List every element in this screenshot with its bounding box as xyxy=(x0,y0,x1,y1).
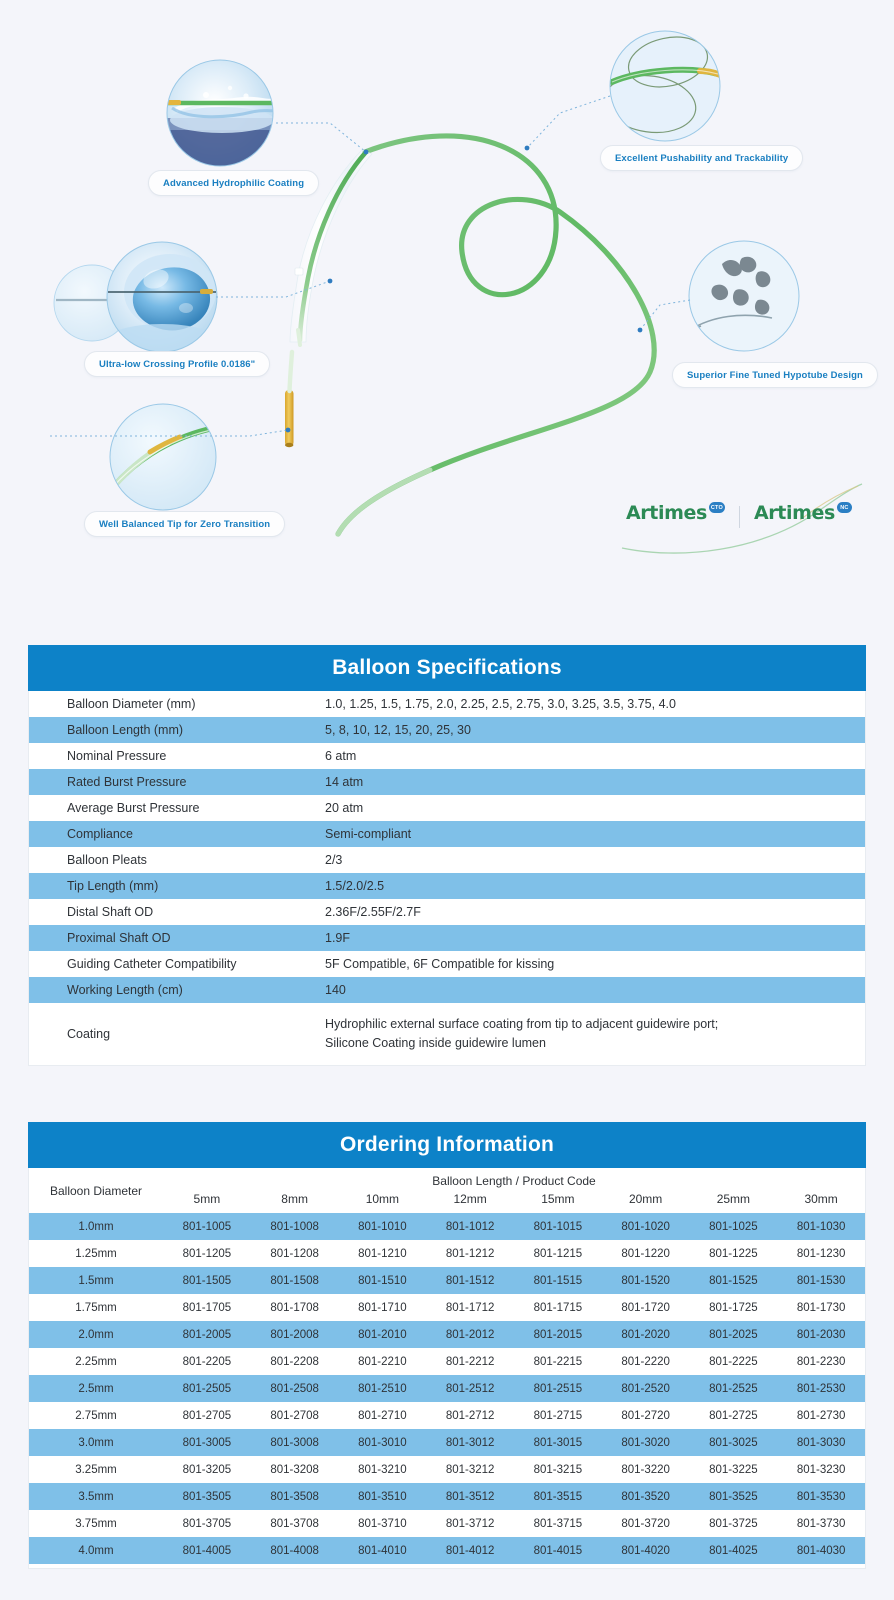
ordering-header-length: 25mm xyxy=(690,1190,778,1213)
ordering-diameter-cell: 1.0mm xyxy=(29,1213,163,1240)
ordering-product-code-cell: 801-1725 xyxy=(690,1294,778,1321)
ordering-diameter-cell: 3.75mm xyxy=(29,1510,163,1537)
spec-value: 5, 8, 10, 12, 15, 20, 25, 30 xyxy=(325,717,865,743)
specifications-body: Balloon Diameter (mm)1.0, 1.25, 1.5, 1.7… xyxy=(29,691,865,1065)
ordering-diameter-cell: 2.0mm xyxy=(29,1321,163,1348)
spec-label: Coating xyxy=(29,1003,325,1065)
ordering-diameter-cell: 1.5mm xyxy=(29,1267,163,1294)
distal-tip xyxy=(285,390,294,446)
spec-row: Balloon Length (mm)5, 8, 10, 12, 15, 20,… xyxy=(29,717,865,743)
ordering-row: 2.75mm801-2705801-2708801-2710801-271280… xyxy=(29,1402,865,1429)
ordering-product-code-cell: 801-3025 xyxy=(690,1429,778,1456)
catheter-shaft-curve xyxy=(338,136,654,534)
brand-artimes-nc: Artimes NC xyxy=(754,504,852,523)
ordering-diameter-cell: 2.25mm xyxy=(29,1348,163,1375)
ordering-product-code-cell: 801-3525 xyxy=(690,1483,778,1510)
ordering-row: 2.25mm801-2205801-2208801-2210801-221280… xyxy=(29,1348,865,1375)
hero-illustration: Advanced Hydrophilic Coating Excellent P… xyxy=(0,0,894,600)
ordering-product-code-cell: 801-2530 xyxy=(777,1375,865,1402)
ordering-product-code-cell: 801-4005 xyxy=(163,1537,251,1564)
ordering-product-code-cell: 801-2512 xyxy=(426,1375,514,1402)
spec-row: Proximal Shaft OD1.9F xyxy=(29,925,865,951)
ordering-row: 2.5mm801-2505801-2508801-2510801-2512801… xyxy=(29,1375,865,1402)
ordering-product-code-cell: 801-3510 xyxy=(339,1483,427,1510)
ordering-product-code-cell: 801-2220 xyxy=(602,1348,690,1375)
ordering-diameter-cell: 3.25mm xyxy=(29,1456,163,1483)
spec-row: Nominal Pressure6 atm xyxy=(29,743,865,769)
brand-lockup: Artimes CTO Artimes NC xyxy=(612,496,872,558)
ordering-product-code-cell: 801-2705 xyxy=(163,1402,251,1429)
ordering-product-code-cell: 801-2230 xyxy=(777,1348,865,1375)
ordering-product-code-cell: 801-2715 xyxy=(514,1402,602,1429)
ordering-product-code-cell: 801-3030 xyxy=(777,1429,865,1456)
ordering-product-code-cell: 801-1712 xyxy=(426,1294,514,1321)
ordering-product-code-cell: 801-2012 xyxy=(426,1321,514,1348)
ordering-product-code-cell: 801-3230 xyxy=(777,1456,865,1483)
spec-label: Working Length (cm) xyxy=(29,977,325,1003)
ordering-product-code-cell: 801-2005 xyxy=(163,1321,251,1348)
ordering-product-code-cell: 801-2720 xyxy=(602,1402,690,1429)
spec-value: 14 atm xyxy=(325,769,865,795)
ordering-product-code-cell: 801-3505 xyxy=(163,1483,251,1510)
ordering-product-code-cell: 801-3020 xyxy=(602,1429,690,1456)
ordering-product-code-cell: 801-1015 xyxy=(514,1213,602,1240)
ordering-product-code-cell: 801-4012 xyxy=(426,1537,514,1564)
ordering-product-code-cell: 801-3705 xyxy=(163,1510,251,1537)
ordering-product-code-cell: 801-2015 xyxy=(514,1321,602,1348)
ordering-row: 1.75mm801-1705801-1708801-1710801-171280… xyxy=(29,1294,865,1321)
ordering-product-code-cell: 801-3010 xyxy=(339,1429,427,1456)
ordering-product-code-cell: 801-2025 xyxy=(690,1321,778,1348)
ordering-row: 1.0mm801-1005801-1008801-1010801-1012801… xyxy=(29,1213,865,1240)
spec-label: Compliance xyxy=(29,821,325,847)
ordering-product-code-cell: 801-2525 xyxy=(690,1375,778,1402)
ordering-product-code-cell: 801-2520 xyxy=(602,1375,690,1402)
ordering-product-code-cell: 801-2205 xyxy=(163,1348,251,1375)
ordering-product-code-cell: 801-1008 xyxy=(251,1213,339,1240)
ordering-row: 3.75mm801-3705801-3708801-3710801-371280… xyxy=(29,1510,865,1537)
ordering-product-code-cell: 801-2508 xyxy=(251,1375,339,1402)
ordering-header-length: 30mm xyxy=(777,1190,865,1213)
ordering-product-code-cell: 801-1530 xyxy=(777,1267,865,1294)
ordering-product-code-cell: 801-3730 xyxy=(777,1510,865,1537)
spec-label: Rated Burst Pressure xyxy=(29,769,325,795)
ordering-product-code-cell: 801-3220 xyxy=(602,1456,690,1483)
spec-row: Average Burst Pressure20 atm xyxy=(29,795,865,821)
spec-value: 1.0, 1.25, 1.5, 1.75, 2.0, 2.25, 2.5, 2.… xyxy=(325,691,865,717)
ordering-product-code-cell: 801-2225 xyxy=(690,1348,778,1375)
ordering-row: 3.5mm801-3505801-3508801-3510801-3512801… xyxy=(29,1483,865,1510)
product-sheet-page: Advanced Hydrophilic Coating Excellent P… xyxy=(0,0,894,1600)
ordering-header-diameter: Balloon Diameter xyxy=(29,1168,163,1213)
spec-row: CoatingHydrophilic external surface coat… xyxy=(29,1003,865,1065)
spec-value: 5F Compatible, 6F Compatible for kissing xyxy=(325,951,865,977)
ordering-title: Ordering Information xyxy=(28,1122,866,1168)
ordering-product-code-cell: 801-4008 xyxy=(251,1537,339,1564)
ordering-product-code-cell: 801-3005 xyxy=(163,1429,251,1456)
ordering-head: Balloon DiameterBalloon Length / Product… xyxy=(29,1168,865,1213)
brand-badge: CTO xyxy=(709,502,725,513)
detail-circle-pushability xyxy=(601,30,720,141)
callout-label: Advanced Hydrophilic Coating xyxy=(163,178,304,189)
ordering-header-length: 20mm xyxy=(602,1190,690,1213)
spec-value: 1.5/2.0/2.5 xyxy=(325,873,865,899)
ordering-product-code-cell: 801-1720 xyxy=(602,1294,690,1321)
brand-divider xyxy=(739,506,740,528)
ordering-product-code-cell: 801-1215 xyxy=(514,1240,602,1267)
ordering-product-code-cell: 801-2212 xyxy=(426,1348,514,1375)
spec-row: Working Length (cm)140 xyxy=(29,977,865,1003)
detail-circle-crossing-profile xyxy=(54,242,217,356)
ordering-product-code-cell: 801-3205 xyxy=(163,1456,251,1483)
ordering-header-length: 5mm xyxy=(163,1190,251,1213)
ordering-product-code-cell: 801-2008 xyxy=(251,1321,339,1348)
spec-label: Balloon Diameter (mm) xyxy=(29,691,325,717)
ordering-diameter-cell: 3.5mm xyxy=(29,1483,163,1510)
ordering-product-code-cell: 801-2510 xyxy=(339,1375,427,1402)
ordering-product-code-cell: 801-3515 xyxy=(514,1483,602,1510)
ordering-product-code-cell: 801-4025 xyxy=(690,1537,778,1564)
ordering-product-code-cell: 801-3225 xyxy=(690,1456,778,1483)
ordering-product-code-cell: 801-3210 xyxy=(339,1456,427,1483)
ordering-product-code-cell: 801-3725 xyxy=(690,1510,778,1537)
spec-value: 1.9F xyxy=(325,925,865,951)
ordering-row: 1.5mm801-1505801-1508801-1510801-1512801… xyxy=(29,1267,865,1294)
ordering-product-code-cell: 801-1012 xyxy=(426,1213,514,1240)
ordering-product-code-cell: 801-3512 xyxy=(426,1483,514,1510)
ordering-row: 1.25mm801-1205801-1208801-1210801-121280… xyxy=(29,1240,865,1267)
ordering-product-code-cell: 801-2725 xyxy=(690,1402,778,1429)
brand-artimes-cto: Artimes CTO xyxy=(626,504,725,523)
spec-value: 2.36F/2.55F/2.7F xyxy=(325,899,865,925)
ordering-header-row-span: Balloon DiameterBalloon Length / Product… xyxy=(29,1168,865,1190)
spec-value: Hydrophilic external surface coating fro… xyxy=(325,1003,865,1065)
ordering-information-panel: Ordering Information Balloon DiameterBal… xyxy=(28,1122,866,1569)
ordering-diameter-cell: 1.75mm xyxy=(29,1294,163,1321)
spec-label: Average Burst Pressure xyxy=(29,795,325,821)
ordering-product-code-cell: 801-1205 xyxy=(163,1240,251,1267)
ordering-product-code-cell: 801-1225 xyxy=(690,1240,778,1267)
ordering-product-code-cell: 801-2210 xyxy=(339,1348,427,1375)
ordering-product-code-cell: 801-1020 xyxy=(602,1213,690,1240)
ordering-product-code-cell: 801-3520 xyxy=(602,1483,690,1510)
ordering-product-code-cell: 801-1220 xyxy=(602,1240,690,1267)
spec-label: Proximal Shaft OD xyxy=(29,925,325,951)
spec-row: Distal Shaft OD2.36F/2.55F/2.7F xyxy=(29,899,865,925)
ordering-product-code-cell: 801-2010 xyxy=(339,1321,427,1348)
brand-name: Artimes xyxy=(754,504,835,523)
ordering-product-code-cell: 801-3712 xyxy=(426,1510,514,1537)
spec-value: 140 xyxy=(325,977,865,1003)
ordering-product-code-cell: 801-1005 xyxy=(163,1213,251,1240)
ordering-row: 3.25mm801-3205801-3208801-3210801-321280… xyxy=(29,1456,865,1483)
ordering-header-length: 12mm xyxy=(426,1190,514,1213)
spec-row: Balloon Diameter (mm)1.0, 1.25, 1.5, 1.7… xyxy=(29,691,865,717)
ordering-header-length-span: Balloon Length / Product Code xyxy=(163,1168,865,1190)
ordering-product-code-cell: 801-1505 xyxy=(163,1267,251,1294)
ordering-diameter-cell: 4.0mm xyxy=(29,1537,163,1564)
ordering-product-code-cell: 801-3012 xyxy=(426,1429,514,1456)
ordering-product-code-cell: 801-2020 xyxy=(602,1321,690,1348)
ordering-product-code-cell: 801-1512 xyxy=(426,1267,514,1294)
ordering-product-code-cell: 801-1510 xyxy=(339,1267,427,1294)
spec-value: Semi-compliant xyxy=(325,821,865,847)
callout-crossing-profile: Ultra-low Crossing Profile 0.0186" xyxy=(84,351,270,377)
spec-label: Balloon Pleats xyxy=(29,847,325,873)
ordering-product-code-cell: 801-2208 xyxy=(251,1348,339,1375)
ordering-product-code-cell: 801-1508 xyxy=(251,1267,339,1294)
spec-row: ComplianceSemi-compliant xyxy=(29,821,865,847)
spec-row: Tip Length (mm)1.5/2.0/2.5 xyxy=(29,873,865,899)
detail-circle-hypotube xyxy=(689,241,799,351)
spec-label: Guiding Catheter Compatibility xyxy=(29,951,325,977)
ordering-product-code-cell: 801-3212 xyxy=(426,1456,514,1483)
specifications-table: Balloon Diameter (mm)1.0, 1.25, 1.5, 1.7… xyxy=(29,691,865,1065)
callout-label: Well Balanced Tip for Zero Transition xyxy=(99,519,270,530)
ordering-body: 1.0mm801-1005801-1008801-1010801-1012801… xyxy=(29,1213,865,1564)
detail-circle-hydrophilic xyxy=(167,60,276,166)
spec-value: 6 atm xyxy=(325,743,865,769)
ordering-product-code-cell: 801-4030 xyxy=(777,1537,865,1564)
ordering-product-code-cell: 801-1030 xyxy=(777,1213,865,1240)
ordering-product-code-cell: 801-1025 xyxy=(690,1213,778,1240)
brand-name: Artimes xyxy=(626,504,707,523)
ordering-product-code-cell: 801-2708 xyxy=(251,1402,339,1429)
ordering-product-code-cell: 801-2030 xyxy=(777,1321,865,1348)
ordering-product-code-cell: 801-2712 xyxy=(426,1402,514,1429)
ordering-product-code-cell: 801-3508 xyxy=(251,1483,339,1510)
ordering-product-code-cell: 801-2710 xyxy=(339,1402,427,1429)
ordering-product-code-cell: 801-3015 xyxy=(514,1429,602,1456)
spec-row: Guiding Catheter Compatibility5F Compati… xyxy=(29,951,865,977)
ordering-product-code-cell: 801-1212 xyxy=(426,1240,514,1267)
ordering-diameter-cell: 3.0mm xyxy=(29,1429,163,1456)
balloon-specifications-panel: Balloon Specifications Balloon Diameter … xyxy=(28,645,866,1066)
ordering-header-length: 15mm xyxy=(514,1190,602,1213)
ordering-product-code-cell: 801-2730 xyxy=(777,1402,865,1429)
ordering-product-code-cell: 801-3215 xyxy=(514,1456,602,1483)
ordering-product-code-cell: 801-1525 xyxy=(690,1267,778,1294)
ordering-product-code-cell: 801-1730 xyxy=(777,1294,865,1321)
ordering-product-code-cell: 801-3715 xyxy=(514,1510,602,1537)
spec-label: Balloon Length (mm) xyxy=(29,717,325,743)
spec-label: Distal Shaft OD xyxy=(29,899,325,925)
ordering-product-code-cell: 801-1705 xyxy=(163,1294,251,1321)
ordering-product-code-cell: 801-1520 xyxy=(602,1267,690,1294)
ordering-row: 3.0mm801-3005801-3008801-3010801-3012801… xyxy=(29,1429,865,1456)
ordering-product-code-cell: 801-1710 xyxy=(339,1294,427,1321)
ordering-product-code-cell: 801-3208 xyxy=(251,1456,339,1483)
callout-label: Ultra-low Crossing Profile 0.0186" xyxy=(99,359,255,370)
ordering-diameter-cell: 1.25mm xyxy=(29,1240,163,1267)
spec-row: Rated Burst Pressure14 atm xyxy=(29,769,865,795)
ordering-product-code-cell: 801-2215 xyxy=(514,1348,602,1375)
spec-label: Nominal Pressure xyxy=(29,743,325,769)
ordering-diameter-cell: 2.75mm xyxy=(29,1402,163,1429)
ordering-product-code-cell: 801-3008 xyxy=(251,1429,339,1456)
ordering-product-code-cell: 801-4010 xyxy=(339,1537,427,1564)
ordering-product-code-cell: 801-1230 xyxy=(777,1240,865,1267)
callout-hypotube: Superior Fine Tuned Hypotube Design xyxy=(672,362,878,388)
brand-badge: NC xyxy=(837,502,852,513)
ordering-header-length: 10mm xyxy=(339,1190,427,1213)
spec-value: 20 atm xyxy=(325,795,865,821)
callout-tip-transition: Well Balanced Tip for Zero Transition xyxy=(84,511,285,537)
ordering-row: 2.0mm801-2005801-2008801-2010801-2012801… xyxy=(29,1321,865,1348)
ordering-product-code-cell: 801-3710 xyxy=(339,1510,427,1537)
ordering-product-code-cell: 801-1515 xyxy=(514,1267,602,1294)
callout-hydrophilic-coating: Advanced Hydrophilic Coating xyxy=(148,170,319,196)
callout-label: Superior Fine Tuned Hypotube Design xyxy=(687,370,863,381)
ordering-product-code-cell: 801-3708 xyxy=(251,1510,339,1537)
spec-row: Balloon Pleats2/3 xyxy=(29,847,865,873)
ordering-product-code-cell: 801-1708 xyxy=(251,1294,339,1321)
specifications-title: Balloon Specifications xyxy=(28,645,866,691)
callout-label: Excellent Pushability and Trackability xyxy=(615,153,788,164)
ordering-header-length: 8mm xyxy=(251,1190,339,1213)
ordering-product-code-cell: 801-1715 xyxy=(514,1294,602,1321)
ordering-product-code-cell: 801-1010 xyxy=(339,1213,427,1240)
ordering-row: 4.0mm801-4005801-4008801-4010801-4012801… xyxy=(29,1537,865,1564)
ordering-product-code-cell: 801-3720 xyxy=(602,1510,690,1537)
detail-circle-tip-transition xyxy=(110,404,216,510)
ordering-product-code-cell: 801-1208 xyxy=(251,1240,339,1267)
ordering-product-code-cell: 801-3530 xyxy=(777,1483,865,1510)
ordering-product-code-cell: 801-4015 xyxy=(514,1537,602,1564)
ordering-table: Balloon DiameterBalloon Length / Product… xyxy=(29,1168,865,1564)
spec-value: 2/3 xyxy=(325,847,865,873)
spec-label: Tip Length (mm) xyxy=(29,873,325,899)
ordering-product-code-cell: 801-1210 xyxy=(339,1240,427,1267)
ordering-product-code-cell: 801-2515 xyxy=(514,1375,602,1402)
ordering-product-code-cell: 801-4020 xyxy=(602,1537,690,1564)
ordering-diameter-cell: 2.5mm xyxy=(29,1375,163,1402)
callout-pushability: Excellent Pushability and Trackability xyxy=(600,145,803,171)
ordering-product-code-cell: 801-2505 xyxy=(163,1375,251,1402)
